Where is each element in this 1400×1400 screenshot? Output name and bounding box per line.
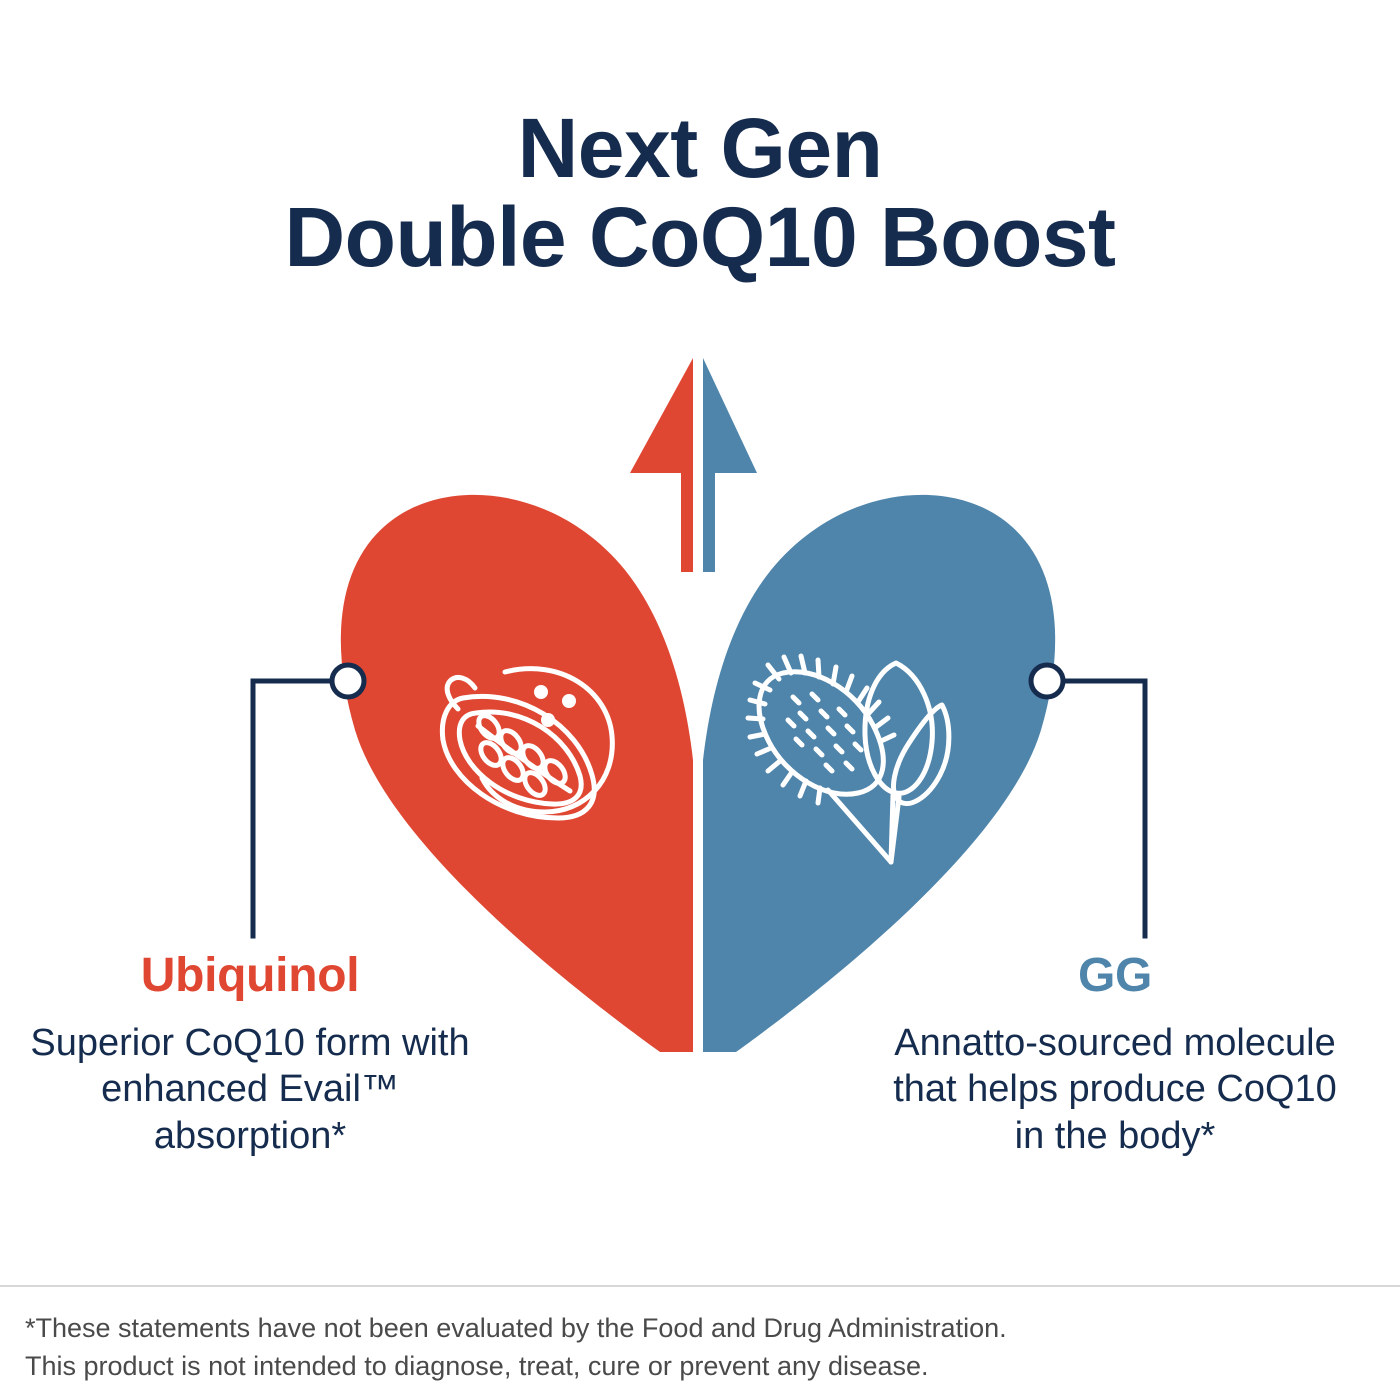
connector-node-right (1031, 665, 1063, 697)
arrow-shaft-right (703, 450, 715, 572)
annatto-pod-icon (442, 669, 612, 818)
disclaimer-line-2: This product is not intended to diagnose… (0, 1347, 1400, 1385)
arrow-shaft-left (681, 450, 693, 572)
right-panel: GG Annatto-sourced molecule that helps p… (875, 952, 1355, 1159)
right-panel-heading: GG (875, 952, 1355, 1000)
connector-left (253, 665, 364, 936)
right-panel-body: Annatto-sourced molecule that helps prod… (875, 1020, 1355, 1159)
connector-right (1031, 665, 1145, 936)
title-line-2: Double CoQ10 Boost (0, 193, 1400, 282)
connector-node-left (332, 665, 364, 697)
page-title: Next Gen Double CoQ10 Boost (0, 104, 1400, 282)
disclaimer-line-1: *These statements have not been evaluate… (0, 1287, 1400, 1347)
grain-and-leaves-icon (748, 656, 949, 862)
arrow-head-left (630, 358, 693, 473)
upward-arrow-icon (630, 358, 757, 572)
left-panel-heading: Ubiquinol (10, 952, 490, 1000)
arrow-head-right (703, 358, 757, 473)
title-line-1: Next Gen (0, 104, 1400, 193)
left-panel: Ubiquinol Superior CoQ10 form with enhan… (10, 952, 490, 1159)
footer-disclaimer: *These statements have not been evaluate… (0, 1285, 1400, 1400)
left-panel-body: Superior CoQ10 form with enhanced Evail™… (10, 1020, 490, 1159)
